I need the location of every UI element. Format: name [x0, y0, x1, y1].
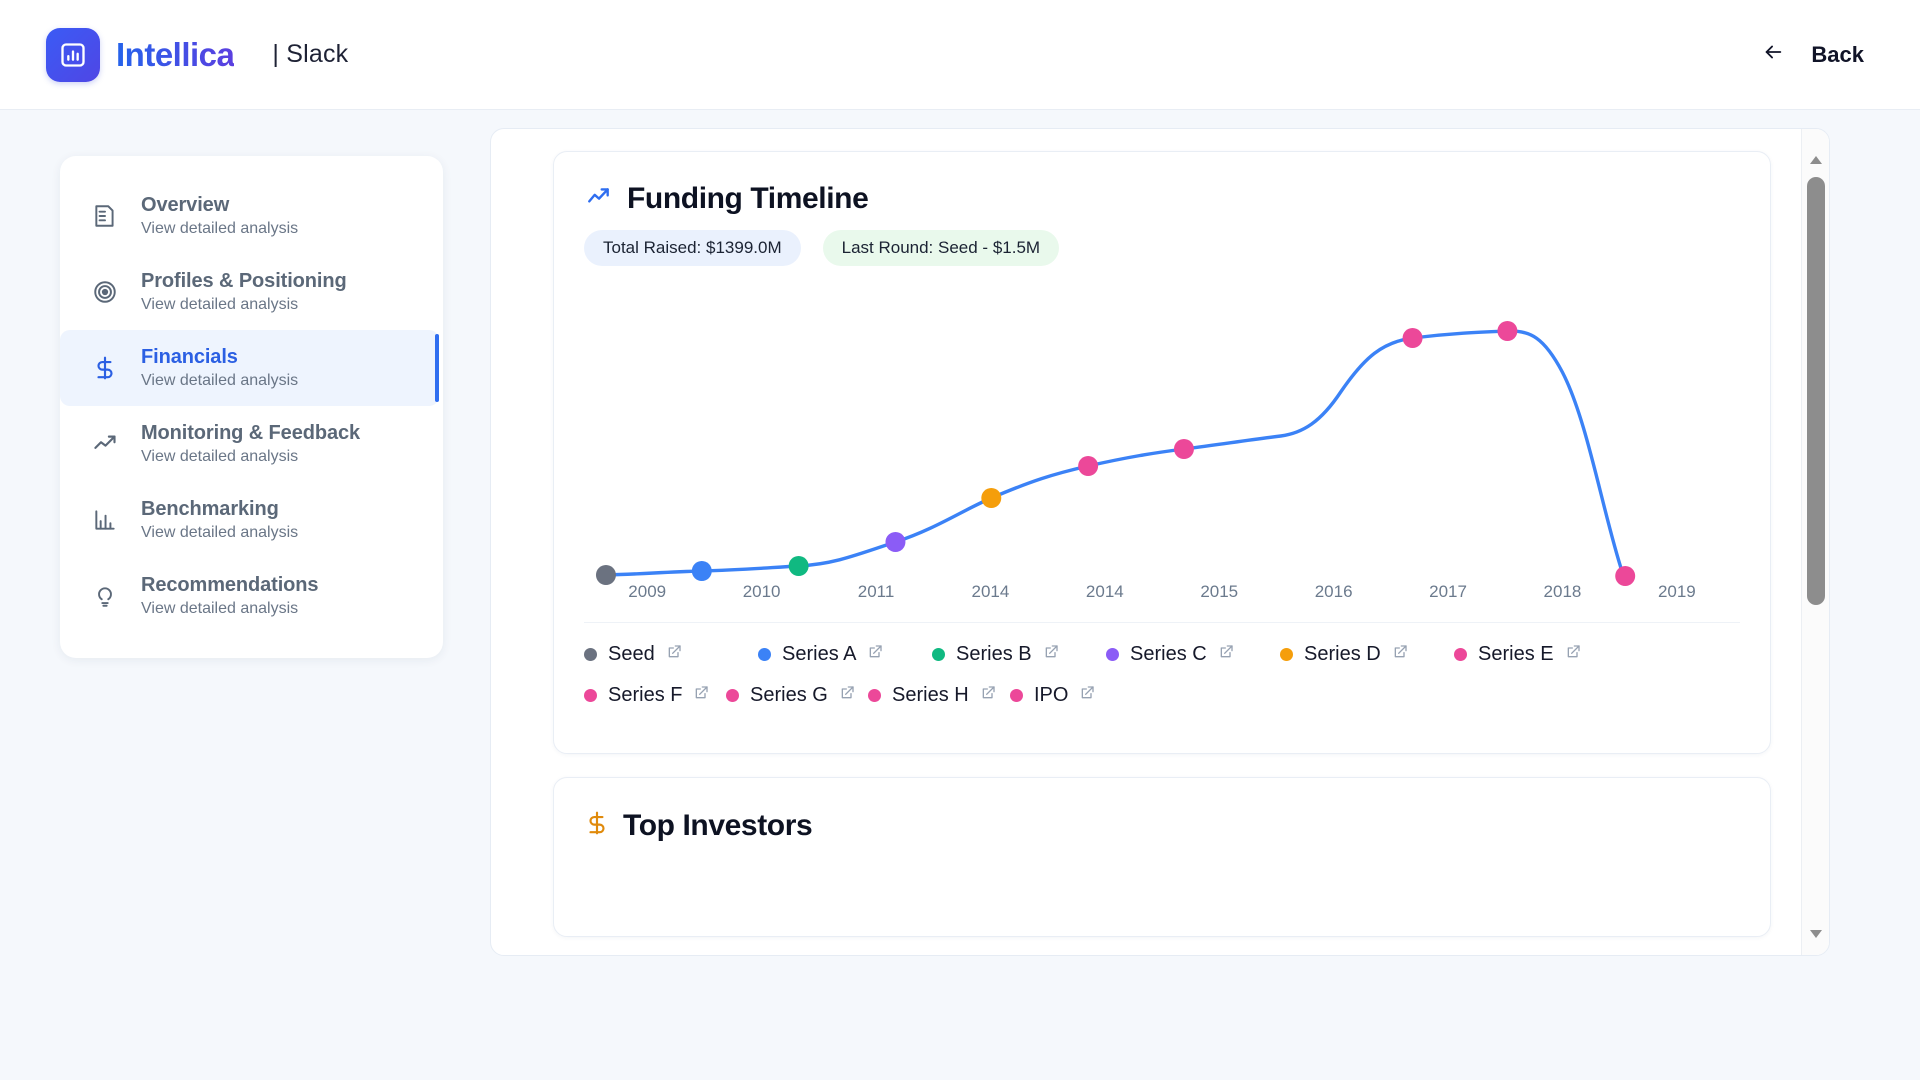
chart-point-series-h [1497, 321, 1517, 341]
legend-item-series-g[interactable]: Series G [726, 684, 868, 707]
status-badge-last-round: Last Round: Seed - $1.5M [823, 230, 1059, 266]
status-badge-total-raised: Total Raised: $1399.0M [584, 230, 801, 266]
back-button[interactable]: Back [1758, 41, 1874, 68]
sidebar-item-financials[interactable]: Financials View detailed analysis [60, 330, 439, 406]
top-investors-card: Top Investors [553, 777, 1771, 937]
target-icon [90, 277, 120, 307]
page-body: Overview View detailed analysis Profiles… [0, 110, 1920, 1080]
chart-point-series-b [789, 556, 809, 576]
sidebar-item-sub: View detailed analysis [141, 296, 347, 314]
sidebar-item-label: Recommendations [141, 574, 318, 597]
legend-color-dot [932, 648, 945, 661]
trend-up-icon [584, 184, 614, 215]
brand: Intellica | Slack [46, 28, 348, 82]
legend-label: Seed [608, 643, 655, 666]
legend-item-series-e[interactable]: Series E [1454, 643, 1628, 666]
sidebar-item-sub: View detailed analysis [141, 220, 298, 238]
legend-color-dot [584, 689, 597, 702]
sidebar-item-sub: View detailed analysis [141, 524, 298, 542]
legend-color-dot [584, 648, 597, 661]
legend-item-series-c[interactable]: Series C [1106, 643, 1280, 666]
x-tick-label: 2011 [819, 582, 933, 602]
legend-color-dot [726, 689, 739, 702]
x-tick-label: 2018 [1505, 582, 1619, 602]
legend-item-ipo[interactable]: IPO [1010, 684, 1152, 707]
external-link-icon[interactable] [1392, 644, 1408, 665]
legend-color-dot [1010, 689, 1023, 702]
external-link-icon[interactable] [867, 644, 883, 665]
legend-color-dot [1106, 648, 1119, 661]
top-investors-header: Top Investors [554, 778, 1770, 843]
legend-color-dot [1454, 648, 1467, 661]
legend-label: Series E [1478, 643, 1554, 666]
external-link-icon[interactable] [1218, 644, 1234, 665]
external-link-icon[interactable] [1565, 644, 1581, 665]
caret-up-icon[interactable] [1802, 147, 1830, 173]
legend-item-series-b[interactable]: Series B [932, 643, 1106, 666]
chart-legend: Seed Series A [554, 623, 1770, 707]
dollar-icon [584, 808, 610, 843]
x-tick-label: 2009 [590, 582, 704, 602]
sidebar-item-label: Benchmarking [141, 498, 298, 521]
brand-name: Intellica [116, 36, 234, 74]
sidebar-item-benchmarking[interactable]: Benchmarking View detailed analysis [60, 482, 443, 558]
chart-point-series-c [885, 532, 905, 552]
scroll-area: Funding Timeline Total Raised: $1399.0M … [491, 129, 1801, 955]
legend-item-seed[interactable]: Seed [584, 643, 758, 666]
legend-label: Series C [1130, 643, 1207, 666]
page-title: Funding Timeline [627, 182, 868, 216]
x-tick-label: 2014 [1048, 582, 1162, 602]
sidebar-item-sub: View detailed analysis [141, 600, 318, 618]
legend-row-2: Series F Series G [584, 684, 1740, 707]
sidebar-item-label: Financials [141, 346, 298, 369]
sidebar-item-label: Monitoring & Feedback [141, 422, 360, 445]
legend-label: Series F [608, 684, 682, 707]
sidebar-item-monitoring-feedback[interactable]: Monitoring & Feedback View detailed anal… [60, 406, 443, 482]
caret-down-icon[interactable] [1802, 921, 1830, 947]
external-link-icon[interactable] [980, 685, 996, 706]
document-icon [90, 201, 120, 231]
x-tick-label: 2017 [1391, 582, 1505, 602]
sidebar-item-recommendations[interactable]: Recommendations View detailed analysis [60, 558, 443, 634]
x-tick-label: 2014 [933, 582, 1047, 602]
legend-label: Series G [750, 684, 828, 707]
trend-up-icon [90, 429, 120, 459]
chart-point-series-e [1078, 456, 1098, 476]
chart-line-series [606, 331, 1622, 575]
legend-item-series-f[interactable]: Series F [584, 684, 726, 707]
legend-label: Series B [956, 643, 1032, 666]
legend-item-series-h[interactable]: Series H [868, 684, 1010, 707]
content-panel: Funding Timeline Total Raised: $1399.0M … [490, 128, 1830, 956]
legend-color-dot [1280, 648, 1293, 661]
x-tick-label: 2016 [1276, 582, 1390, 602]
legend-label: Series H [892, 684, 969, 707]
top-bar: Intellica | Slack Back [0, 0, 1920, 110]
lightbulb-icon [90, 581, 120, 611]
sidebar-item-sub: View detailed analysis [141, 372, 298, 390]
funding-timeline-card: Funding Timeline Total Raised: $1399.0M … [553, 151, 1771, 754]
legend-color-dot [758, 648, 771, 661]
legend-item-series-d[interactable]: Series D [1280, 643, 1454, 666]
sidebar: Overview View detailed analysis Profiles… [60, 156, 443, 658]
legend-color-dot [868, 689, 881, 702]
legend-label: Series D [1304, 643, 1381, 666]
scroll-thumb[interactable] [1807, 177, 1825, 605]
chart-svg [584, 280, 1740, 610]
chart-point-series-g [1403, 328, 1423, 348]
sidebar-item-label: Profiles & Positioning [141, 270, 347, 293]
chart-point-series-f [1174, 439, 1194, 459]
x-tick-label: 2010 [704, 582, 818, 602]
external-link-icon[interactable] [839, 685, 855, 706]
legend-item-series-a[interactable]: Series A [758, 643, 932, 666]
external-link-icon[interactable] [1079, 685, 1095, 706]
funding-timeline-chart: 2009 2010 2011 2014 2014 2015 2016 2017 … [584, 280, 1740, 610]
external-link-icon[interactable] [666, 644, 682, 665]
funding-timeline-header: Funding Timeline [554, 152, 1770, 216]
chart-point-series-d [981, 488, 1001, 508]
bar-chart-icon [46, 28, 100, 82]
sidebar-item-label: Overview [141, 194, 298, 217]
company-context: | Slack [272, 40, 348, 69]
vertical-scrollbar[interactable] [1801, 129, 1829, 955]
top-investors-title: Top Investors [623, 809, 812, 843]
legend-label: Series A [782, 643, 856, 666]
external-link-icon[interactable] [1043, 644, 1059, 665]
back-label: Back [1811, 42, 1864, 68]
sidebar-item-profiles-positioning[interactable]: Profiles & Positioning View detailed ana… [60, 254, 443, 330]
funding-badges: Total Raised: $1399.0M Last Round: Seed … [554, 216, 1770, 266]
sidebar-item-sub: View detailed analysis [141, 448, 360, 466]
legend-row-1: Seed Series A [584, 643, 1740, 666]
legend-label: IPO [1034, 684, 1068, 707]
x-tick-label: 2015 [1162, 582, 1276, 602]
arrow-left-icon [1758, 41, 1788, 68]
chart-point-series-a [692, 561, 712, 581]
bar-chart-icon [90, 505, 120, 535]
external-link-icon[interactable] [693, 685, 709, 706]
chart-x-axis: 2009 2010 2011 2014 2014 2015 2016 2017 … [584, 582, 1740, 602]
dollar-icon [90, 353, 120, 383]
x-tick-label: 2019 [1620, 582, 1734, 602]
sidebar-item-overview[interactable]: Overview View detailed analysis [60, 178, 443, 254]
